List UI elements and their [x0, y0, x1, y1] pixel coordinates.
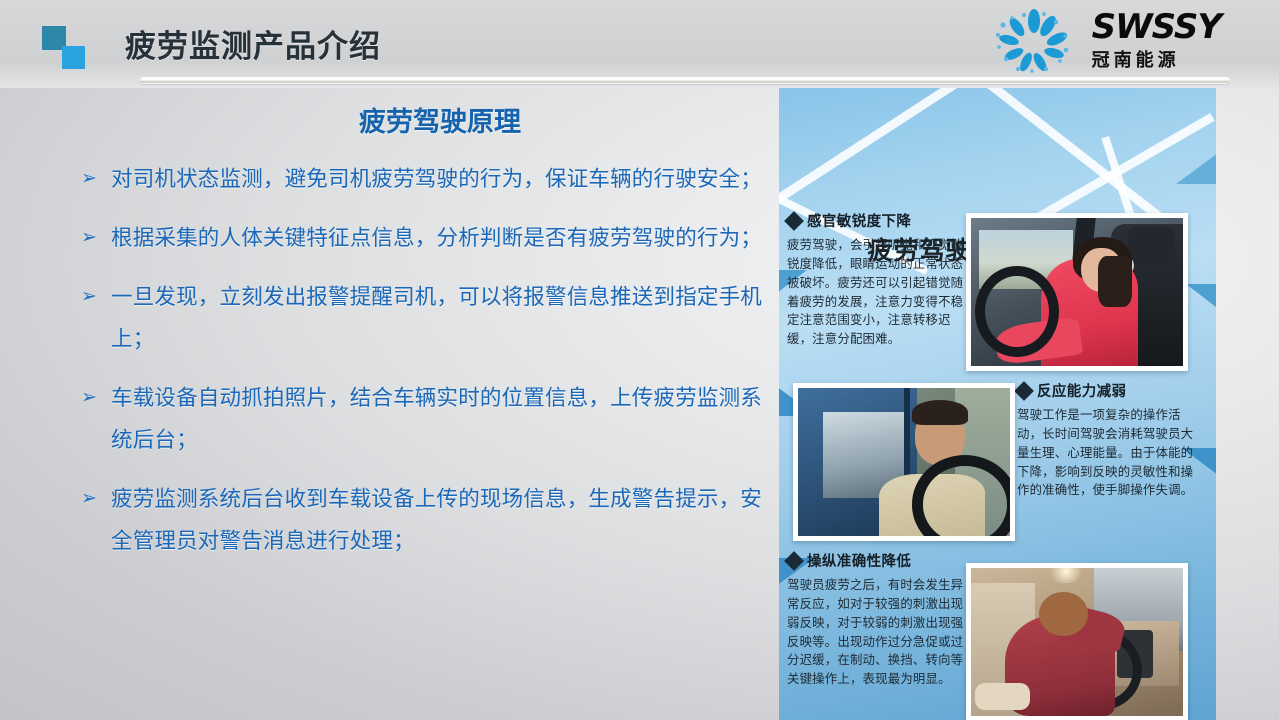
- list-item-text: 车载设备自动抓拍照片，结合车辆实时的位置信息，上传疲劳监测系统后台；: [111, 377, 778, 461]
- decorative-squares: [42, 26, 94, 68]
- info-item-1-title: 感官敏锐度下降: [807, 210, 911, 231]
- photo-content: [971, 568, 1183, 716]
- decor-triangle-6: [1176, 150, 1216, 184]
- decor-triangle-2: [1186, 284, 1216, 310]
- list-item: ➢ 根据采集的人体关键特征点信息，分析判断是否有疲劳驾驶的行为；: [78, 217, 778, 259]
- company-logo: SWSSY 冠南能源: [990, 8, 1221, 74]
- diamond-bullet-icon: [784, 211, 804, 231]
- diamond-bullet-icon: [784, 551, 804, 571]
- info-item-2-title: 反应能力减弱: [1037, 380, 1126, 401]
- slide-header: 疲劳监测产品介绍: [0, 0, 1279, 88]
- info-item-1-body: 疲劳驾驶，会引起听觉和视觉敏锐度降低，眼睛运动的正常状态被破坏。疲劳还可以引起错…: [787, 236, 965, 349]
- list-item: ➢ 一旦发现，立刻发出报警提醒司机，可以将报警信息推送到指定手机上；: [78, 276, 778, 360]
- chevron-bullet-icon: ➢: [78, 158, 111, 200]
- info-item-3-header: 操纵准确性降低: [787, 550, 967, 571]
- slide-canvas: 疲劳监测产品介绍: [0, 0, 1279, 720]
- tired-woman-driver-photo: [966, 213, 1188, 371]
- chevron-bullet-icon: ➢: [78, 276, 111, 318]
- chevron-bullet-icon: ➢: [78, 217, 111, 259]
- info-item-1-header: 感官敏锐度下降: [787, 210, 965, 231]
- decor-line-1: [779, 88, 1016, 214]
- logo-wordmark: SWSSY: [1092, 10, 1221, 44]
- chevron-bullet-icon: ➢: [78, 478, 111, 520]
- list-item-text: 疲劳监测系统后台收到车载设备上传的现场信息，生成警告提示，安全管理员对警告消息进…: [111, 478, 778, 562]
- logo-text-group: SWSSY 冠南能源: [1092, 10, 1221, 72]
- header-divider-rule: [140, 77, 1230, 84]
- logo-subtitle: 冠南能源: [1092, 49, 1221, 72]
- photo-content: [971, 218, 1183, 366]
- list-item: ➢ 对司机状态监测，避免司机疲劳驾驶的行为，保证车辆的行驶安全；: [78, 158, 778, 200]
- square-light-icon: [62, 46, 85, 69]
- list-item-text: 对司机状态监测，避免司机疲劳驾驶的行为，保证车辆的行驶安全；: [111, 158, 778, 200]
- photo-content: [798, 388, 1010, 536]
- bullet-list: ➢ 对司机状态监测，避免司机疲劳驾驶的行为，保证车辆的行驶安全； ➢ 根据采集的…: [78, 158, 778, 579]
- page-title: 疲劳监测产品介绍: [125, 21, 381, 66]
- list-item-text: 根据采集的人体关键特征点信息，分析判断是否有疲劳驾驶的行为；: [111, 217, 778, 259]
- list-item: ➢ 车载设备自动抓拍照片，结合车辆实时的位置信息，上传疲劳监测系统后台；: [78, 377, 778, 461]
- info-item-2-header: 反应能力减弱: [1017, 380, 1205, 401]
- info-item-1: 感官敏锐度下降 疲劳驾驶，会引起听觉和视觉敏锐度降低，眼睛运动的正常状态被破坏。…: [787, 210, 965, 349]
- info-item-2: 反应能力减弱 驾驶工作是一项复杂的操作活动，长时间驾驶会消耗驾驶员大量生理、心理…: [1017, 380, 1205, 500]
- info-item-2-body: 驾驶工作是一项复杂的操作活动，长时间驾驶会消耗驾驶员大量生理、心理能量。由于体能…: [1017, 406, 1205, 500]
- diamond-bullet-icon: [1014, 381, 1034, 401]
- water-droplet-flower-icon: [990, 9, 1078, 73]
- list-item: ➢ 疲劳监测系统后台收到车载设备上传的现场信息，生成警告提示，安全管理员对警告消…: [78, 478, 778, 562]
- chevron-bullet-icon: ➢: [78, 377, 111, 419]
- info-item-3: 操纵准确性降低 驾驶员疲劳之后，有时会发生异常反应，如对于较强的刺激出现弱反映，…: [787, 550, 967, 689]
- content-heading: 疲劳驾驶原理: [130, 100, 750, 139]
- list-item-text: 一旦发现，立刻发出报警提醒司机，可以将报警信息推送到指定手机上；: [111, 276, 778, 360]
- driver-slumped-on-wheel-photo: [966, 563, 1188, 720]
- info-item-3-title: 操纵准确性降低: [807, 550, 911, 571]
- exhausted-truck-driver-photo: [793, 383, 1015, 541]
- info-item-3-body: 驾驶员疲劳之后，有时会发生异常反应，如对于较强的刺激出现弱反映，对于较弱的刺激出…: [787, 576, 967, 689]
